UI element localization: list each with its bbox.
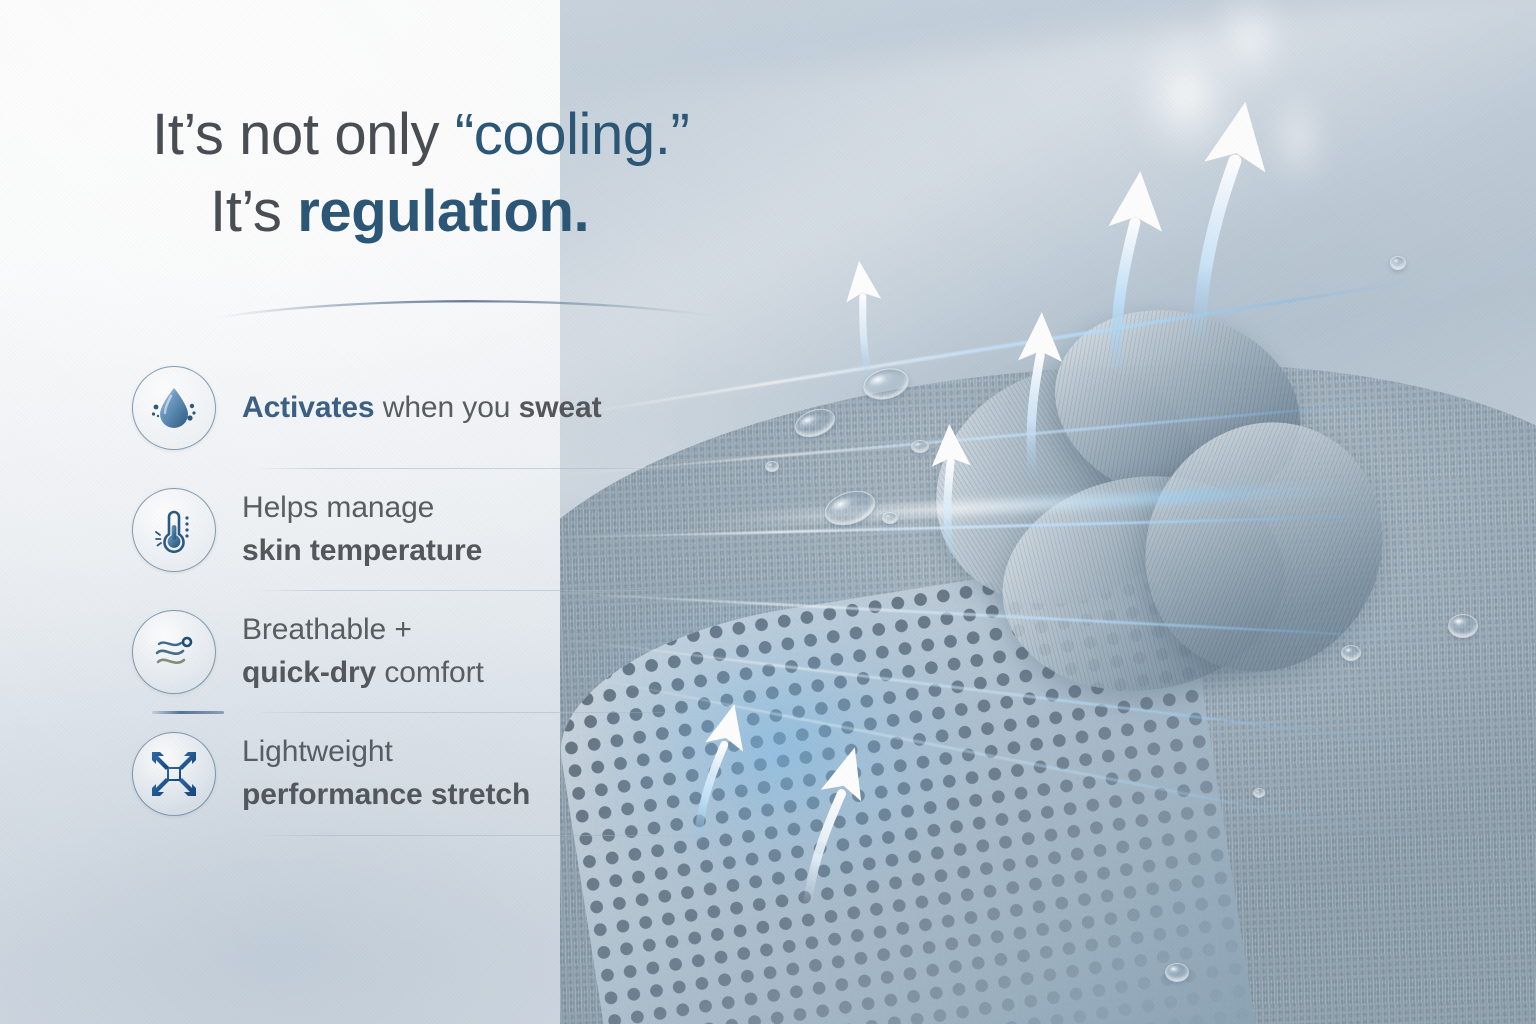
- feature-list: Activates when you sweat: [132, 366, 732, 854]
- airflow-core-glow: [684, 482, 1366, 528]
- water-droplet: [1341, 645, 1361, 661]
- water-droplet-icon: [132, 366, 216, 450]
- feature-accent-activates: Activates: [242, 391, 375, 424]
- water-droplet: [882, 512, 898, 524]
- feature-item-stretch[interactable]: Lightweightperformance stretch: [132, 731, 732, 816]
- headline-line1-plain: It’s not only: [152, 102, 455, 167]
- feature-item-breathable[interactable]: Breathable +quick-dry comfort: [132, 609, 732, 694]
- content-column: It’s not only “cooling.” It’s regulation…: [0, 0, 760, 1024]
- vapor-arrow-icon: [1009, 306, 1067, 478]
- headline-line2-accent: regulation.: [297, 179, 589, 244]
- four-way-stretch-icon: [132, 732, 216, 816]
- feature-line2-temperature: skin temperature: [242, 534, 482, 567]
- airflow-waves-icon: [132, 610, 216, 694]
- water-droplet: [1390, 256, 1406, 270]
- feature-line1-stretch: Lightweight: [242, 735, 393, 768]
- headline-line2-plain: It’s: [210, 179, 297, 244]
- headline-line1-accent: “cooling.”: [455, 102, 690, 167]
- headline-divider-arc: [212, 292, 716, 326]
- thermometer-icon: [132, 488, 216, 572]
- feature-line2-stretch: performance stretch: [242, 778, 530, 811]
- feature-divider-bottom: [260, 835, 732, 836]
- feature-bold-sweat: sweat: [519, 391, 602, 424]
- water-droplet: [1165, 963, 1189, 982]
- feature-divider: [260, 590, 732, 591]
- feature-item-activates[interactable]: Activates when you sweat: [132, 366, 732, 450]
- feature-line1-temperature: Helps manage: [242, 491, 434, 524]
- headline-line-2: It’s regulation.: [210, 181, 772, 244]
- feature-bold-quickdry: quick-dry: [242, 656, 376, 689]
- poster-canvas: It’s not only “cooling.” It’s regulation…: [0, 0, 1536, 1024]
- feature-text-breathable: Breathable +quick-dry comfort: [242, 609, 484, 694]
- page-title: It’s not only “cooling.” It’s regulation…: [152, 104, 772, 243]
- headline-line-1: It’s not only “cooling.”: [152, 104, 772, 167]
- feature-mid-activates: when you: [375, 391, 519, 424]
- feature-text-stretch: Lightweightperformance stretch: [242, 731, 530, 816]
- feature-text-activates: Activates when you sweat: [242, 387, 602, 430]
- vapor-arrow-icon: [926, 419, 977, 561]
- feature-divider: [260, 712, 732, 713]
- feature-tail-comfort: comfort: [376, 656, 484, 689]
- feature-item-temperature[interactable]: Helps manageskin temperature: [132, 487, 732, 572]
- water-droplet: [765, 461, 779, 472]
- accent-dash: [152, 711, 224, 714]
- feature-text-temperature: Helps manageskin temperature: [242, 487, 482, 572]
- feature-divider: [260, 468, 732, 469]
- feature-line1-breathable: Breathable +: [242, 613, 412, 646]
